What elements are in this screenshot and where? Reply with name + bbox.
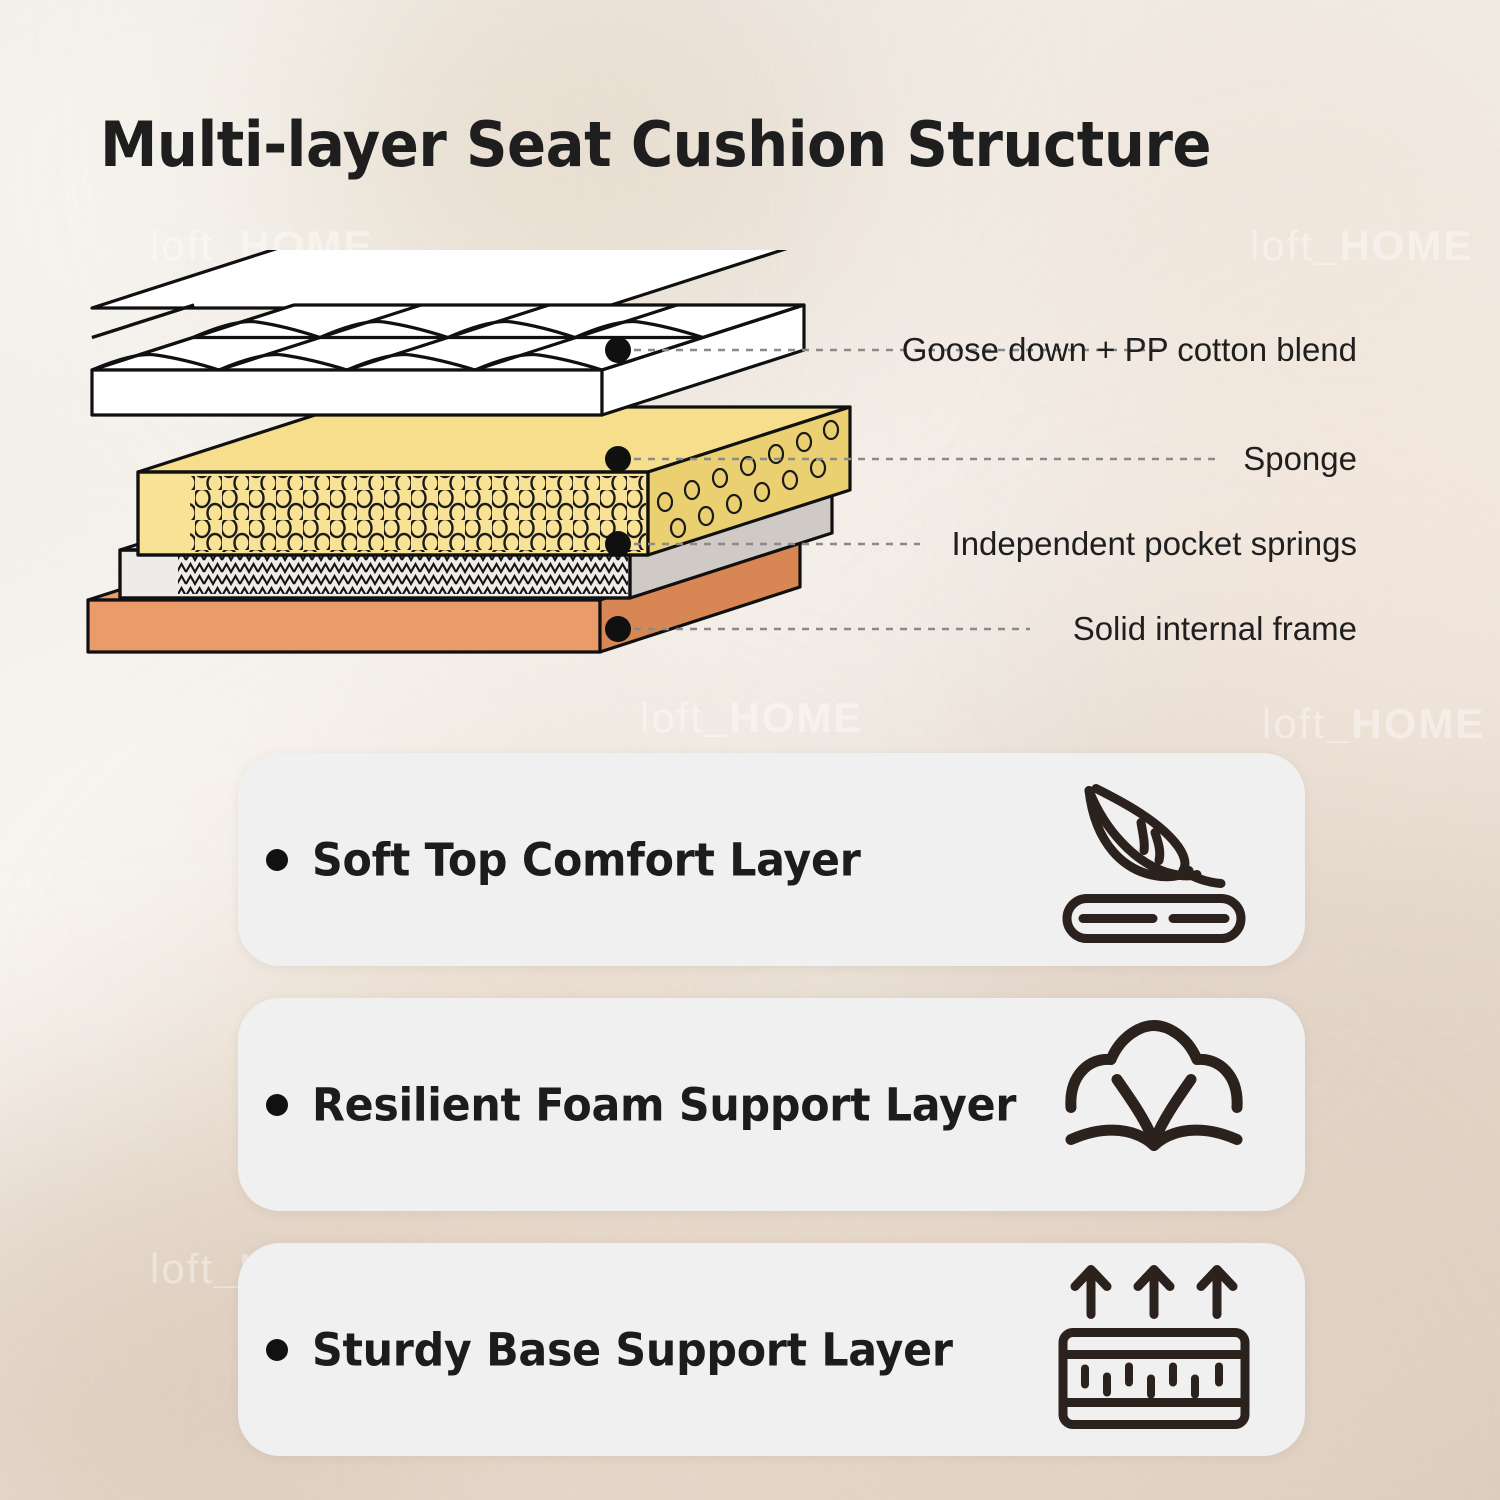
exploded-cushion-diagram: Goose down + PP cotton blend Sponge Inde… <box>60 250 1460 710</box>
bullet-icon <box>266 1339 288 1361</box>
mattress-support-arrows-icon <box>1049 1262 1259 1437</box>
callout-marker-dot <box>605 616 631 642</box>
feature-label: Soft Top Comfort Layer <box>312 833 861 886</box>
callout-label-sponge: Sponge <box>1243 440 1357 477</box>
cotton-boll-icon <box>1049 1017 1259 1192</box>
bullet-icon <box>266 1094 288 1116</box>
callout-label-goose-down: Goose down + PP cotton blend <box>902 331 1357 368</box>
callout-label-solid-frame: Solid internal frame <box>1073 610 1357 647</box>
infographic-canvas: loft_HOME loft_HOME loft_HOME loft_HOME … <box>0 0 1500 1500</box>
callout-label-pocket-springs: Independent pocket springs <box>952 525 1357 562</box>
page-title: Multi-layer Seat Cushion Structure <box>100 108 1211 181</box>
feature-label: Resilient Foam Support Layer <box>312 1078 1016 1131</box>
callout-marker-dot <box>605 337 631 363</box>
callout-marker-dot <box>605 531 631 557</box>
bullet-icon <box>266 849 288 871</box>
feature-card-soft-top[interactable]: Soft Top Comfort Layer <box>238 753 1305 966</box>
feature-card-sturdy-base[interactable]: Sturdy Base Support Layer <box>238 1243 1305 1456</box>
feature-card-resilient-foam[interactable]: Resilient Foam Support Layer <box>238 998 1305 1211</box>
layer-quilted-top <box>92 250 804 308</box>
callout-marker-dot <box>605 446 631 472</box>
feature-label: Sturdy Base Support Layer <box>312 1323 953 1376</box>
feather-on-cushion-icon <box>1049 772 1259 947</box>
